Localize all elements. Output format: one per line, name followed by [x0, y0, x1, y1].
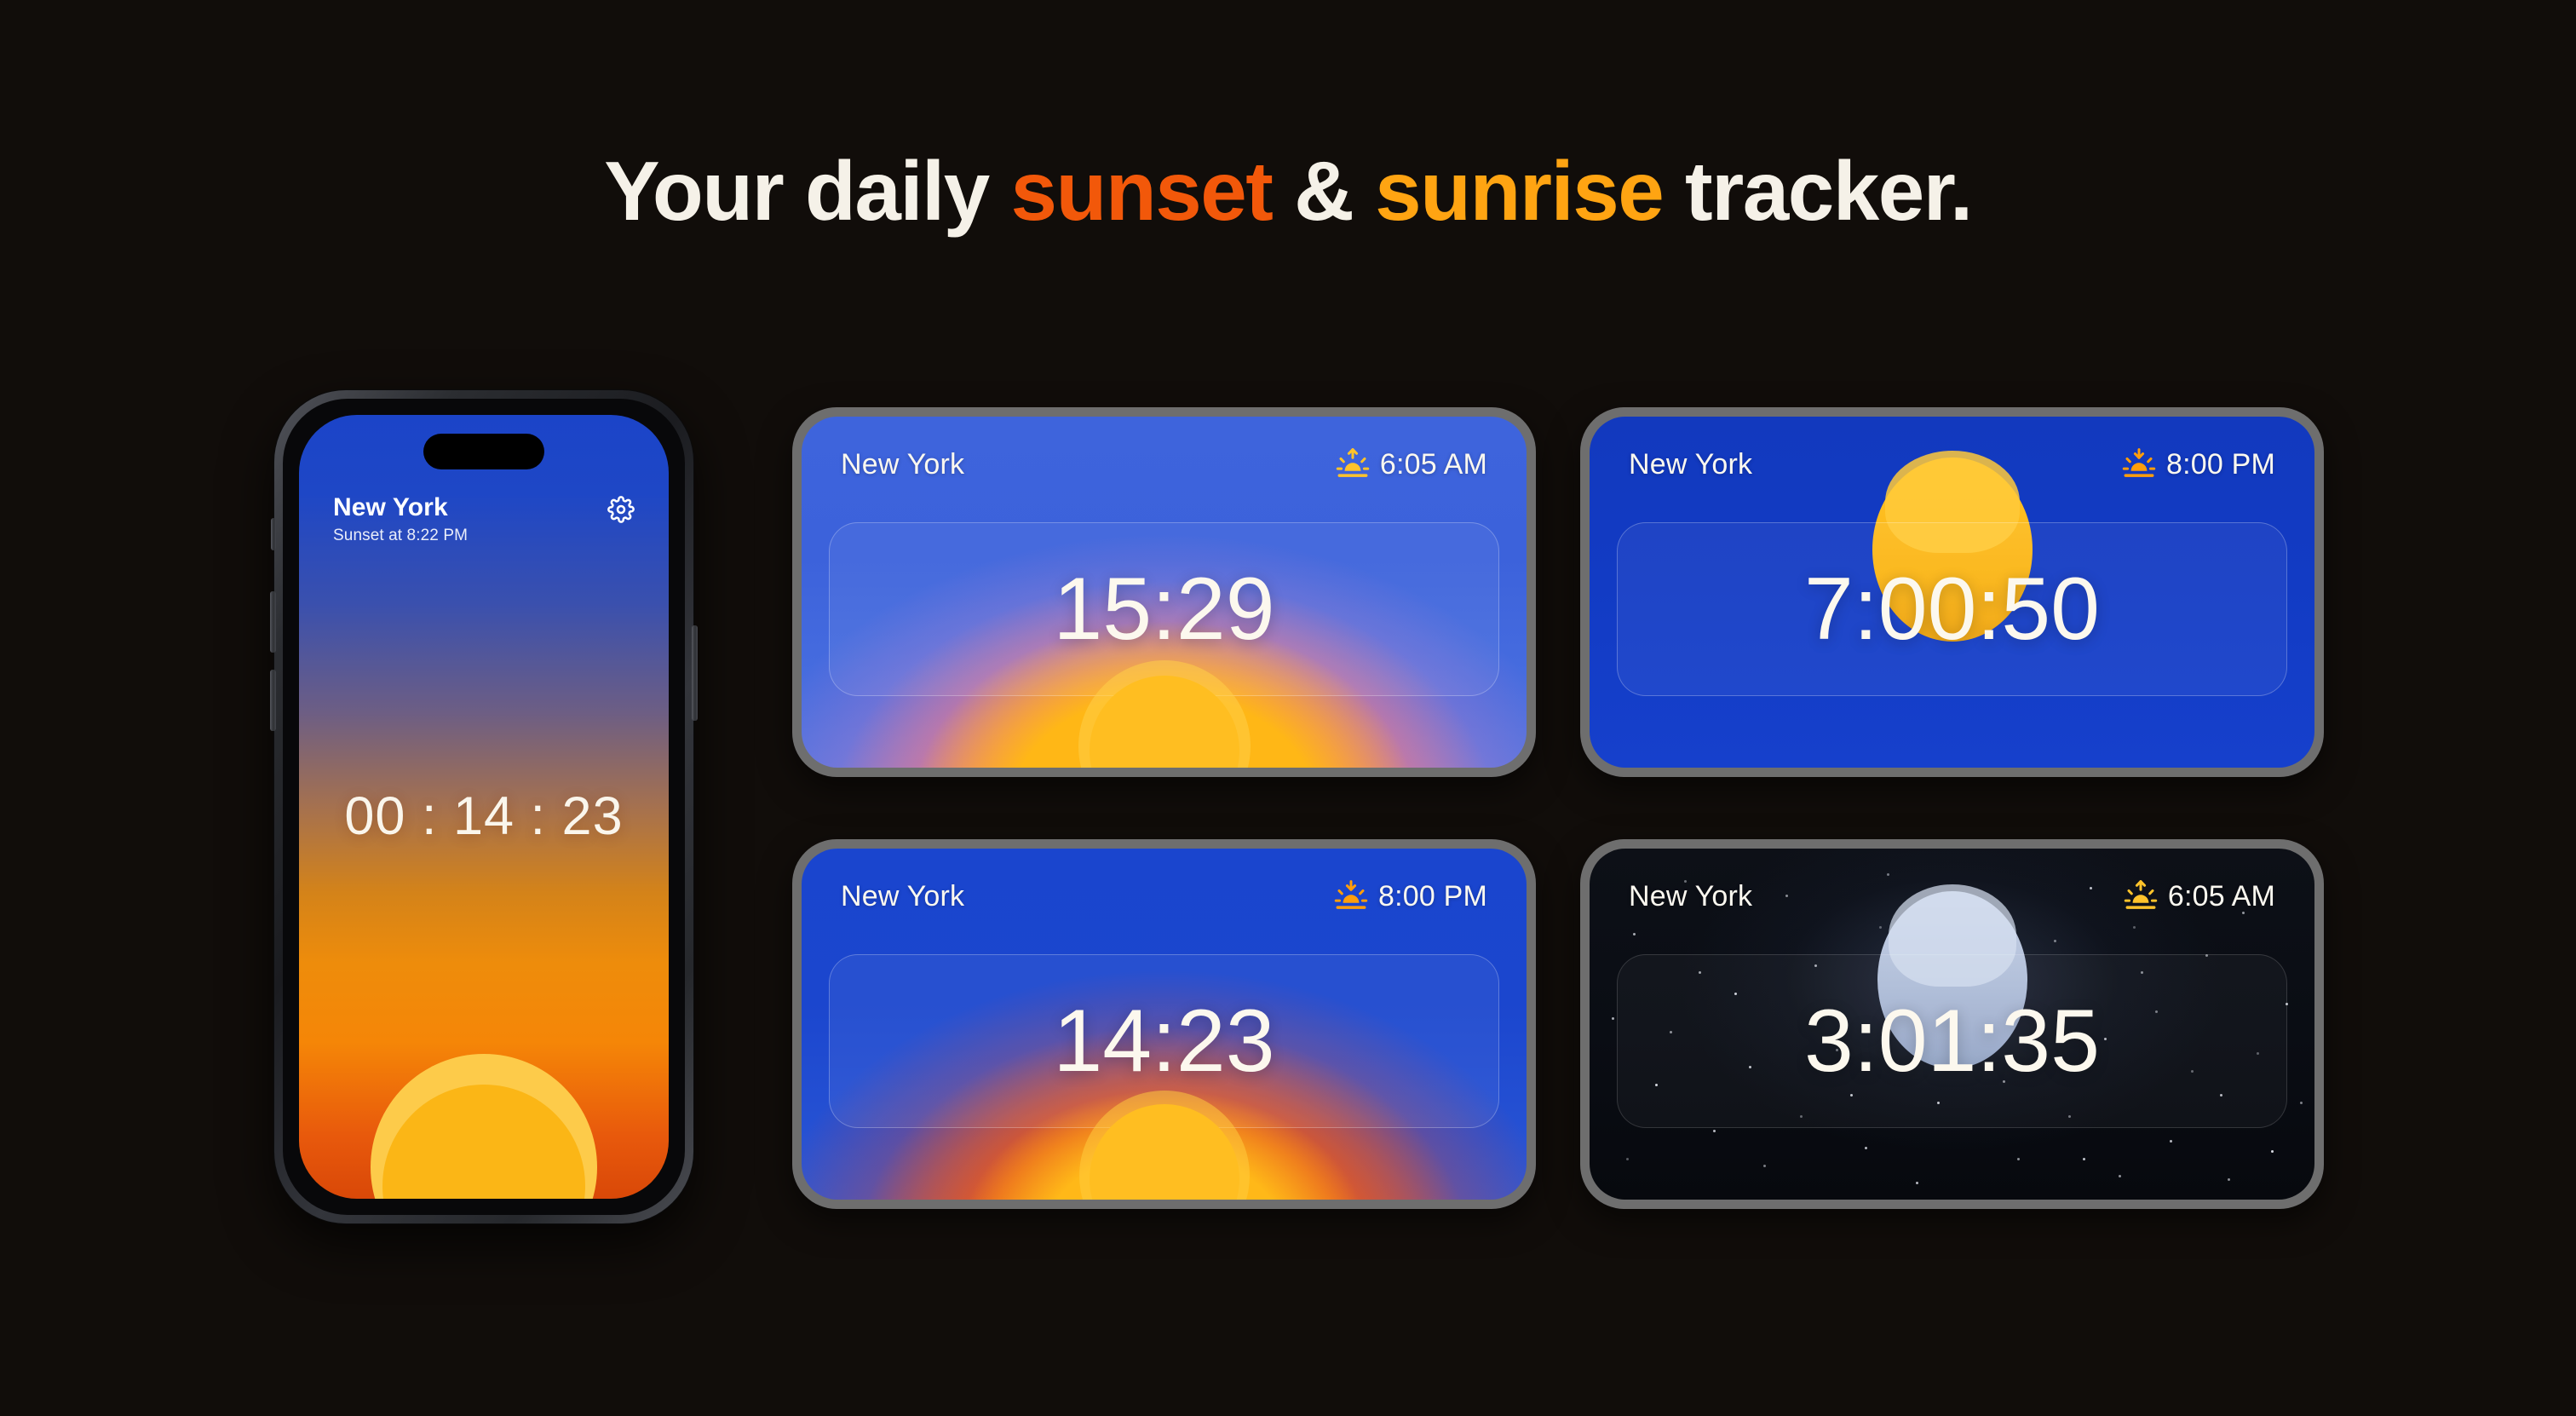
widget-night[interactable]: New York 6:05 AM 3:01 — [1580, 839, 2324, 1209]
widget-event-block: 8:00 PM — [1334, 879, 1487, 913]
widget-city-name: New York — [1629, 448, 1752, 481]
headline-sunset-word: sunset — [1011, 144, 1273, 238]
phone-silent-switch[interactable] — [271, 518, 276, 550]
headline-part-1: Your daily — [604, 144, 1010, 238]
phone-screen: New York Sunset at 8:22 PM 00 : 14 : 23 — [299, 415, 669, 1199]
widget-sunset-glow[interactable]: New York 8:00 PM 14:2 — [792, 839, 1536, 1209]
phone-location-block: New York Sunset at 8:22 PM — [333, 493, 468, 545]
widget-header: New York 8:00 PM — [1629, 447, 2275, 481]
widget-countdown-timer: 14:23 — [1053, 997, 1274, 1085]
phone-frame: New York Sunset at 8:22 PM 00 : 14 : 23 — [274, 390, 693, 1223]
sunset-icon — [1334, 879, 1368, 913]
widget-event-block: 6:05 AM — [1336, 447, 1487, 481]
widget-screen: New York 8:00 PM 14:2 — [802, 849, 1527, 1200]
widget-city-name: New York — [841, 448, 964, 481]
dynamic-island — [423, 434, 544, 469]
widget-event-time: 8:00 PM — [2166, 448, 2275, 481]
widget-countdown-timer: 7:00:50 — [1804, 565, 2100, 653]
phone-app-header: New York Sunset at 8:22 PM — [333, 493, 635, 545]
widget-screen: New York 6:05 AM 15:2 — [802, 417, 1527, 768]
phone-countdown-timer: 00 : 14 : 23 — [299, 786, 669, 847]
widget-event-time: 6:05 AM — [2168, 880, 2275, 913]
widget-header: New York 6:05 AM — [841, 447, 1487, 481]
widget-city-name: New York — [1629, 880, 1752, 913]
widget-header: New York 6:05 AM — [1629, 879, 2275, 913]
widget-countdown-card: 7:00:50 — [1617, 522, 2287, 696]
headline-part-2: & — [1272, 144, 1375, 238]
phone-city-name: New York — [333, 493, 468, 523]
widget-sunrise-rainbow[interactable]: New York 6:05 AM 15:2 — [792, 407, 1536, 777]
sunrise-icon — [1336, 447, 1370, 481]
widget-screen: New York 6:05 AM 3:01 — [1590, 849, 2314, 1200]
sunset-icon — [2122, 447, 2156, 481]
sunrise-icon — [2124, 879, 2158, 913]
widget-city-name: New York — [841, 880, 964, 913]
phone-bezel: New York Sunset at 8:22 PM 00 : 14 : 23 — [283, 399, 685, 1215]
widget-screen: New York 8:00 PM 7:00 — [1590, 417, 2314, 768]
widget-countdown-card: 3:01:35 — [1617, 954, 2287, 1128]
phone-mockup: New York Sunset at 8:22 PM 00 : 14 : 23 — [274, 390, 693, 1223]
headline-part-3: tracker. — [1663, 144, 1971, 238]
widget-countdown-timer: 3:01:35 — [1804, 997, 2100, 1085]
widget-event-block: 6:05 AM — [2124, 879, 2275, 913]
page-title: Your daily sunset & sunrise tracker. — [0, 143, 2576, 239]
phone-volume-down-button[interactable] — [270, 670, 276, 731]
widget-header: New York 8:00 PM — [841, 879, 1487, 913]
widget-countdown-timer: 15:29 — [1053, 565, 1274, 653]
phone-power-button[interactable] — [692, 625, 698, 721]
widget-event-time: 8:00 PM — [1378, 880, 1487, 913]
widget-event-block: 8:00 PM — [2122, 447, 2275, 481]
widget-event-time: 6:05 AM — [1380, 448, 1487, 481]
widget-sunset-solid[interactable]: New York 8:00 PM 7:00 — [1580, 407, 2324, 777]
gear-icon[interactable] — [607, 496, 635, 523]
phone-sunset-subtitle: Sunset at 8:22 PM — [333, 527, 468, 545]
headline-sunrise-word: sunrise — [1375, 144, 1663, 238]
phone-volume-up-button[interactable] — [270, 591, 276, 653]
